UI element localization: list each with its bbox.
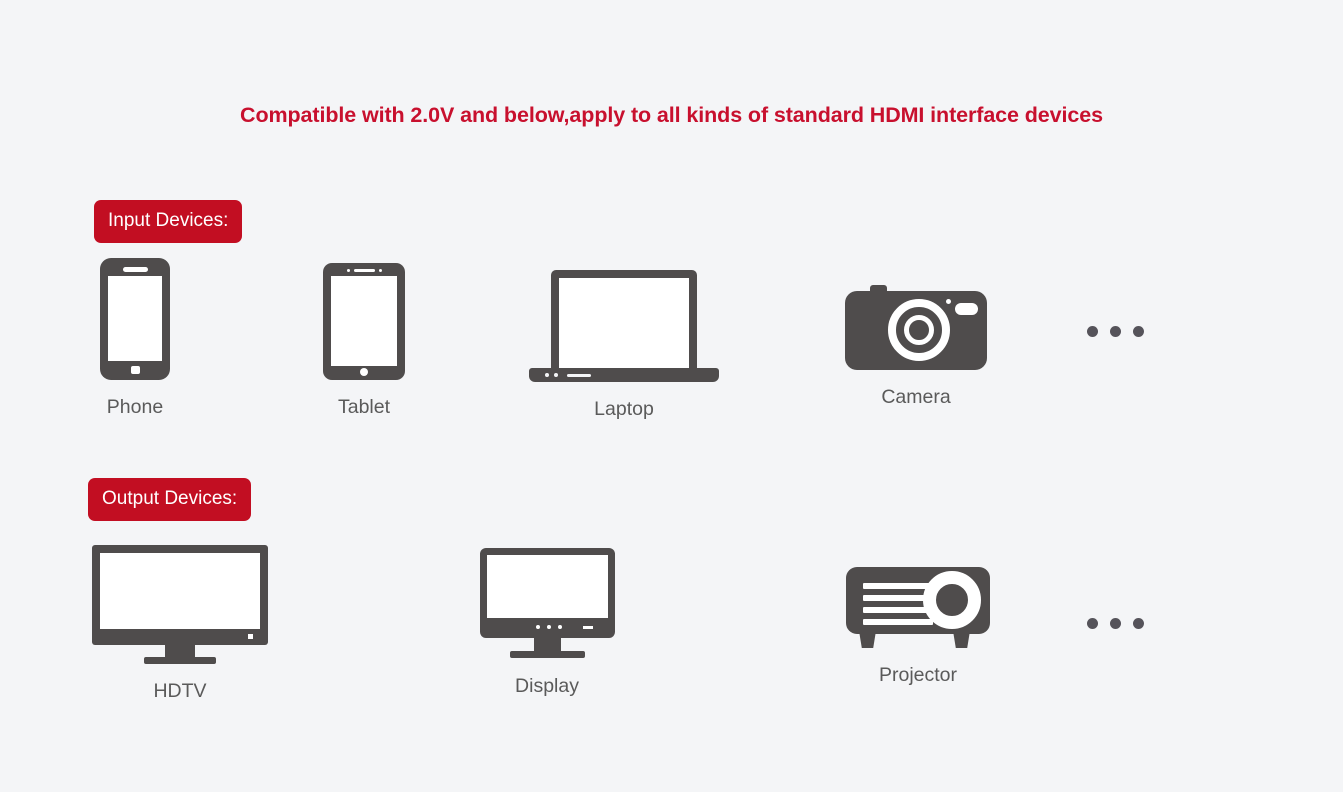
phone-screen <box>108 276 162 361</box>
ellipsis-icon <box>1087 618 1144 629</box>
device-caption: Tablet <box>264 396 464 419</box>
input-devices-row: Phone Tablet Laptop <box>0 258 1343 433</box>
device-caption: Phone <box>35 396 235 419</box>
projector-vent-1 <box>863 583 933 589</box>
monitor-button-dot-2 <box>547 625 551 629</box>
ellipsis-dot <box>1087 618 1098 629</box>
projector-icon <box>846 567 990 649</box>
monitor-screen <box>487 555 608 618</box>
laptop-trackpad-dash <box>567 374 591 377</box>
projector-vent-3 <box>863 607 933 613</box>
tablet-screen <box>331 276 397 366</box>
page-headline: Compatible with 2.0V and below,apply to … <box>0 103 1343 128</box>
laptop-indicator-dot-2 <box>554 373 558 377</box>
output-devices-badge: Output Devices: <box>88 478 251 521</box>
device-item-camera: Camera <box>816 285 1016 409</box>
projector-foot-right <box>952 634 971 648</box>
output-devices-row: HDTV Display Projector <box>0 545 1343 720</box>
monitor-stand-base <box>510 651 585 658</box>
laptop-screen <box>559 278 689 368</box>
device-item-phone: Phone <box>35 258 235 419</box>
device-item-hdtv: HDTV <box>80 545 280 703</box>
monitor-button-dot-3 <box>558 625 562 629</box>
hdtv-power-led <box>248 634 253 639</box>
device-caption: Display <box>447 675 647 698</box>
monitor-icon <box>480 548 615 660</box>
ellipsis-dot <box>1133 326 1144 337</box>
laptop-icon <box>529 270 719 382</box>
tablet-speaker <box>354 269 375 272</box>
hdtv-stand-base <box>144 657 216 664</box>
device-caption: Laptop <box>499 398 749 421</box>
laptop-indicator-dot-1 <box>545 373 549 377</box>
device-item-tablet: Tablet <box>264 263 464 419</box>
monitor-button-dot-1 <box>536 625 540 629</box>
projector-foot-left <box>858 634 877 648</box>
camera-lens-inner-ring <box>904 315 934 345</box>
phone-speaker <box>123 267 148 272</box>
monitor-power-dash <box>583 626 593 629</box>
tablet-home-button <box>360 368 368 376</box>
camera-flash <box>955 303 978 315</box>
camera-sensor-dot <box>946 299 951 304</box>
ellipsis-dot <box>1110 326 1121 337</box>
device-caption: HDTV <box>80 680 280 703</box>
hdtv-icon <box>92 545 268 665</box>
tablet-icon <box>323 263 405 380</box>
projector-lens <box>923 571 981 629</box>
ellipsis-dot <box>1087 326 1098 337</box>
smartphone-icon <box>100 258 170 380</box>
phone-home-button <box>131 366 140 374</box>
device-caption: Camera <box>816 386 1016 409</box>
projector-vent-4 <box>863 619 933 625</box>
device-caption: Projector <box>818 664 1018 687</box>
hdtv-screen <box>100 553 260 629</box>
tablet-sensor-dot-right <box>379 269 382 272</box>
input-devices-badge: Input Devices: <box>94 200 242 243</box>
device-item-laptop: Laptop <box>499 270 749 421</box>
ellipsis-icon <box>1087 326 1144 337</box>
device-item-projector: Projector <box>818 567 1018 687</box>
ellipsis-dot <box>1110 618 1121 629</box>
camera-icon <box>845 285 987 370</box>
ellipsis-dot <box>1133 618 1144 629</box>
device-item-display: Display <box>447 548 647 698</box>
tablet-sensor-dot-left <box>347 269 350 272</box>
